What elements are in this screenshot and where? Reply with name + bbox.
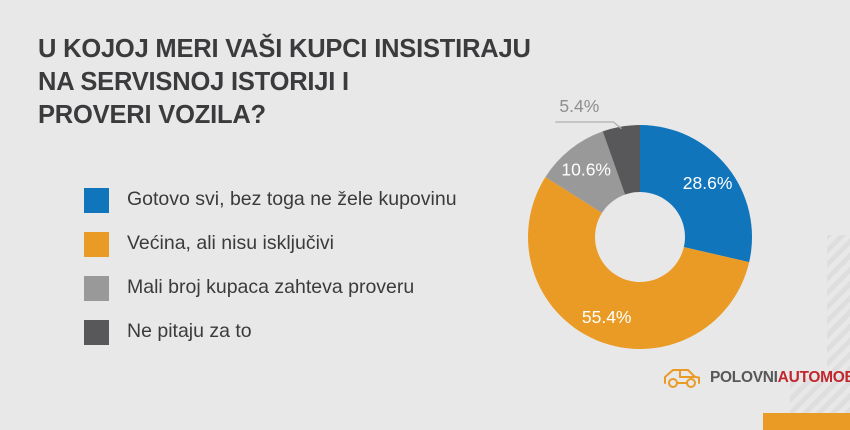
legend-swatch-dark-gray xyxy=(84,320,109,345)
infographic-canvas: U KOJOJ MERI VAŠI KUPCI INSISTIRAJU NA S… xyxy=(0,0,850,430)
legend-swatch-blue xyxy=(84,188,109,213)
logo-text-polovni: POLOVNI xyxy=(710,369,778,386)
orange-accent-bar xyxy=(763,413,850,430)
legend-swatch-light-gray xyxy=(84,276,109,301)
legend-item-3[interactable]: Ne pitaju za to xyxy=(84,310,457,354)
logo-text-automobili: AUTOMOBILI xyxy=(778,369,850,386)
callout-leader-line-3 xyxy=(555,122,621,129)
donut-callouts: 5.4% xyxy=(555,96,621,129)
title-line-1: U KOJOJ MERI VAŠI KUPCI INSISTIRAJU xyxy=(38,33,598,66)
legend-swatch-orange xyxy=(84,232,109,257)
legend-label-1: Većina, ali nisu isključivi xyxy=(127,234,334,254)
slice-value-label-1: 55.4% xyxy=(582,307,632,327)
car-icon xyxy=(662,366,702,390)
legend-label-0: Gotovo svi, bez toga ne žele kupovinu xyxy=(127,190,457,210)
legend-item-0[interactable]: Gotovo svi, bez toga ne žele kupovinu xyxy=(84,178,457,222)
slice-value-label-3: 5.4% xyxy=(559,96,599,116)
brand-logo[interactable]: POLOVNIAUTOMOBILI xyxy=(662,366,850,390)
legend-label-3: Ne pitaju za to xyxy=(127,322,252,342)
legend-item-2[interactable]: Mali broj kupaca zahteva proveru xyxy=(84,266,457,310)
donut-chart-svg: 28.6%55.4%10.6% 5.4% xyxy=(505,80,795,370)
chart-legend: Gotovo svi, bez toga ne žele kupovinu Ve… xyxy=(84,178,457,354)
donut-chart: 28.6%55.4%10.6% 5.4% xyxy=(505,80,795,370)
donut-center-hole xyxy=(595,192,685,282)
slice-value-label-2: 10.6% xyxy=(561,159,611,179)
logo-wordmark: POLOVNIAUTOMOBILI xyxy=(710,370,850,386)
legend-item-1[interactable]: Većina, ali nisu isključivi xyxy=(84,222,457,266)
slice-value-label-0: 28.6% xyxy=(683,173,733,193)
legend-label-2: Mali broj kupaca zahteva proveru xyxy=(127,278,414,298)
